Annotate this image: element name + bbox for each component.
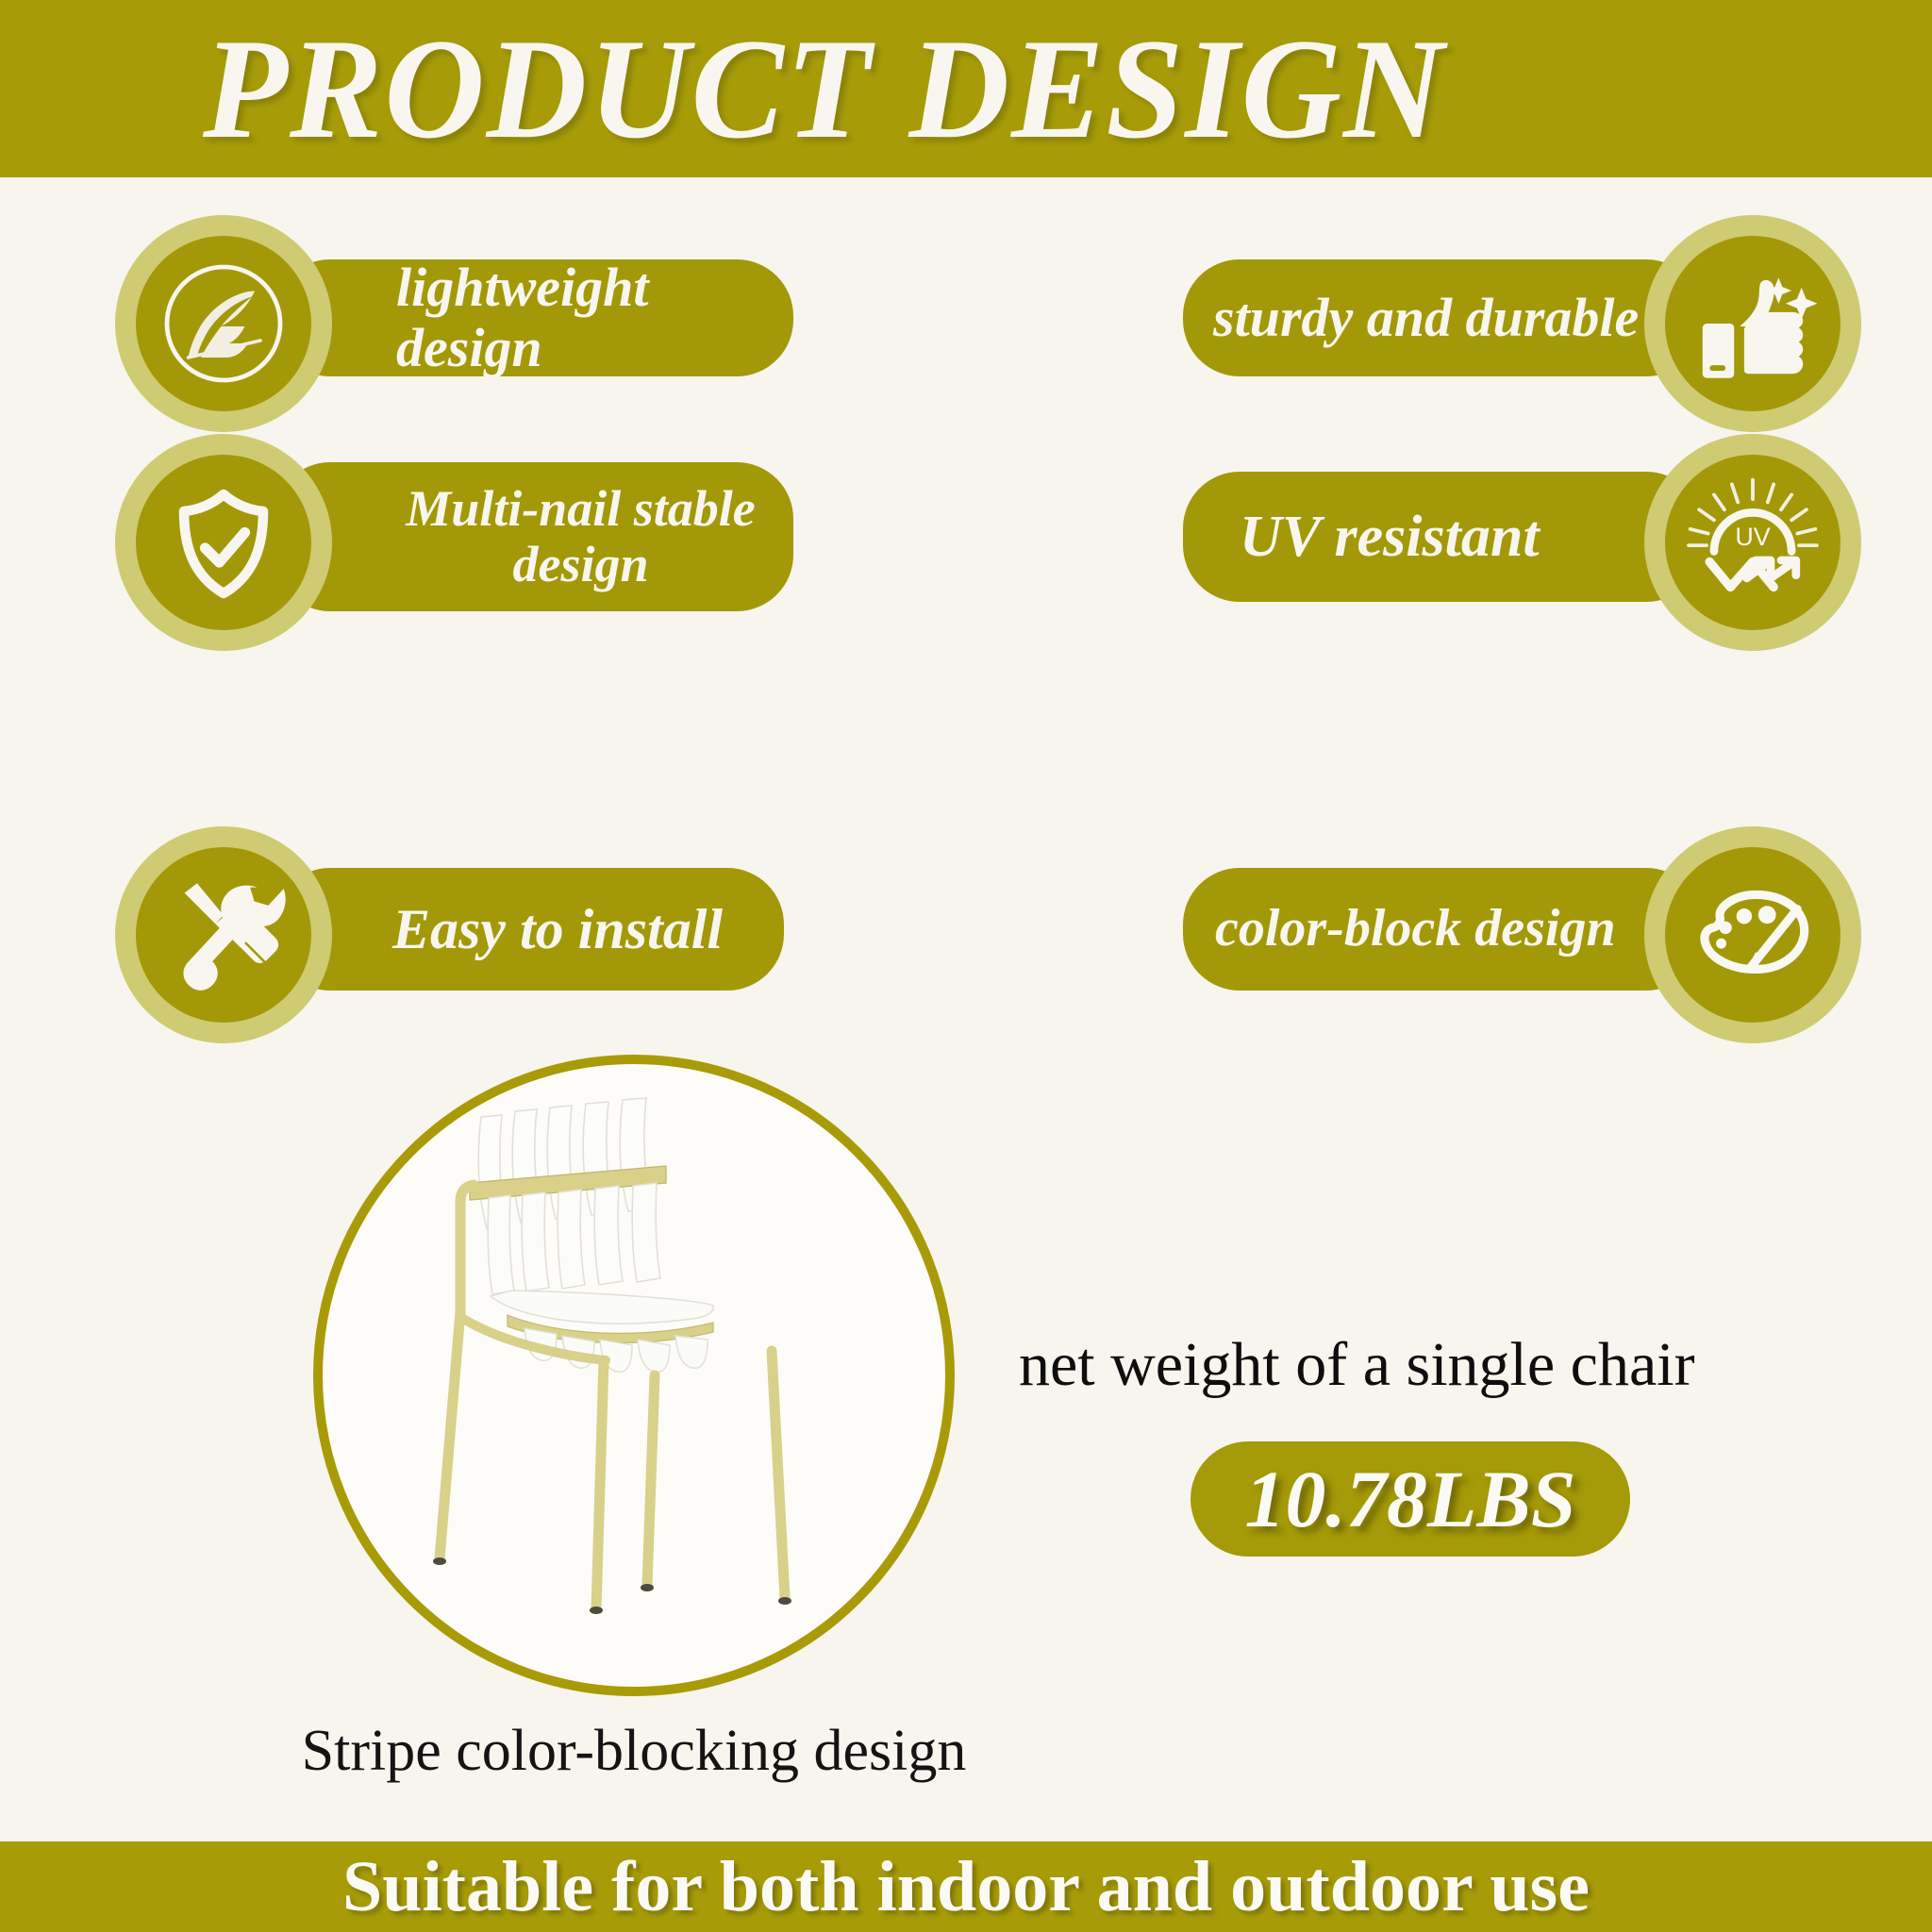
feature-badge-multinail: [115, 434, 332, 651]
feature-easy-to-install: Easy to install: [115, 826, 851, 1043]
feature-badge-install: [115, 826, 332, 1043]
feature-badge-uv: UV: [1644, 434, 1861, 651]
feature-pill-install: Easy to install: [274, 868, 784, 991]
footer-text: Suitable for both indoor and outdoor use: [342, 1851, 1590, 1923]
feature-lightweight-design: lightweight design: [115, 215, 851, 432]
feature-sturdy-durable: sturdy and durable: [1125, 215, 1861, 432]
feature-pill-colorblock: color-block design: [1183, 868, 1703, 991]
feature-uv-resistant: UV resistant: [1125, 434, 1861, 651]
feather-icon: [153, 253, 294, 394]
infographic-canvas: PRODUCT DESIGN lightweight design sturdy…: [0, 0, 1932, 1932]
uv-sun-icon: UV: [1678, 468, 1827, 617]
feature-pill-lightweight: lightweight design: [274, 259, 793, 376]
weight-value: 10.78LBS: [1244, 1458, 1575, 1540]
feature-label-lightweight: lightweight design: [396, 258, 793, 378]
uv-icon-text: UV: [1735, 523, 1770, 551]
weight-label: net weight of a single chair: [1019, 1334, 1849, 1396]
feature-label-colorblock: color-block design: [1215, 900, 1703, 958]
feature-label-install: Easy to install: [392, 898, 784, 960]
palette-icon: [1681, 863, 1824, 1007]
weight-badge: 10.78LBS: [1191, 1441, 1630, 1557]
header-bar: PRODUCT DESIGN: [0, 0, 1932, 177]
feature-label-multinail: Multi-nail stable design: [394, 481, 767, 593]
feature-label-uv: UV resistant: [1240, 505, 1703, 569]
feature-badge-sturdy: [1644, 215, 1861, 432]
chair-illustration: [323, 1064, 945, 1687]
product-image-circle: [313, 1055, 955, 1696]
feature-color-block-design: color-block design: [1125, 826, 1861, 1043]
feature-pill-uv: UV resistant: [1183, 472, 1703, 602]
footer-bar: Suitable for both indoor and outdoor use: [0, 1841, 1932, 1932]
feature-pill-sturdy: sturdy and durable: [1183, 259, 1703, 376]
page-title: PRODUCT DESIGN: [203, 17, 1445, 160]
feature-multinail-stable-design: Multi-nail stable design: [115, 434, 851, 651]
feature-label-sturdy: sturdy and durable: [1213, 288, 1703, 348]
tools-icon: [154, 865, 293, 1005]
feature-pill-multinail: Multi-nail stable design: [274, 462, 793, 611]
shield-check-icon: [153, 472, 294, 613]
thumbs-up-icon: [1681, 252, 1824, 395]
feature-badge-lightweight: [115, 215, 332, 432]
feature-badge-colorblock: [1644, 826, 1861, 1043]
product-caption: Stripe color-blocking design: [219, 1722, 1049, 1780]
